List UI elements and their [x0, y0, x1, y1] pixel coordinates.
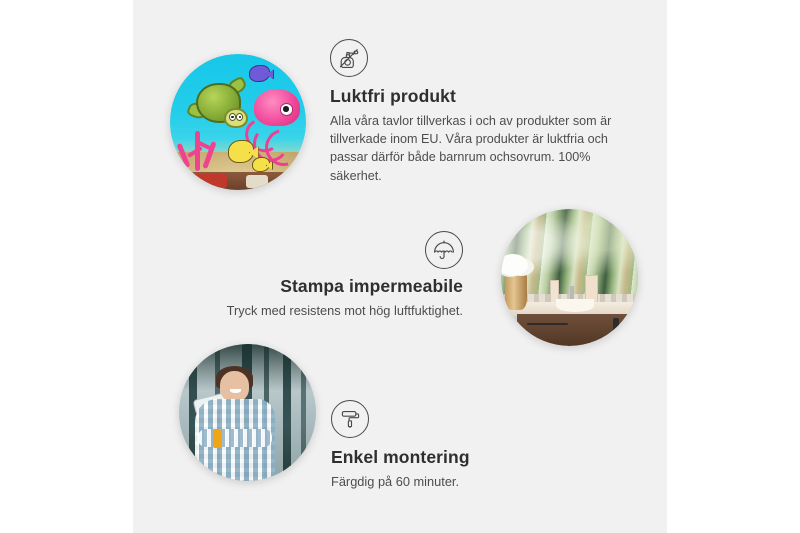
feature-waterproof-print: Stampa impermeabile Tryck med resistens … — [200, 231, 463, 320]
yellow-tool — [213, 429, 221, 448]
feature-title: Stampa impermeabile — [200, 276, 463, 298]
vase — [505, 272, 527, 310]
icon-wrapper — [331, 400, 581, 438]
feature-title: Luktfri produkt — [330, 86, 630, 108]
image-bathroom-botanical-wallpaper — [501, 209, 638, 346]
feature-description: Tryck med resistens mot hög luftfuktighe… — [200, 302, 463, 321]
feature-description: Alla våra tavlor tillverkas i och av pro… — [330, 112, 630, 185]
no-fragrance-spray-icon — [330, 39, 368, 77]
sea-turtle — [192, 81, 249, 130]
yellow-fish-large — [228, 140, 253, 162]
image-underwater-kids-mural — [170, 54, 306, 190]
icon-wrapper — [200, 231, 463, 276]
feature-odour-free: Luktfri produkt Alla våra tavlor tillver… — [330, 39, 630, 185]
image-woman-with-paint-roller — [179, 344, 316, 481]
icon-wrapper — [330, 39, 630, 77]
coral — [175, 125, 221, 171]
person-face — [220, 371, 249, 401]
umbrella-icon — [425, 231, 463, 269]
person-folded-arms — [198, 429, 272, 447]
feature-easy-mounting: Enkel montering Färgdig på 60 minuter. — [331, 400, 581, 491]
paint-roller-icon — [331, 400, 369, 438]
feature-description: Färgdig på 60 minuter. — [331, 473, 581, 492]
wood-vanity-cabinet — [517, 314, 638, 346]
feature-title: Enkel montering — [331, 447, 581, 469]
blue-fish — [249, 65, 270, 82]
sink-basin — [556, 299, 594, 311]
page-root: Luktfri produkt Alla våra tavlor tillver… — [0, 0, 800, 533]
sea-foreground-strip — [170, 172, 306, 190]
